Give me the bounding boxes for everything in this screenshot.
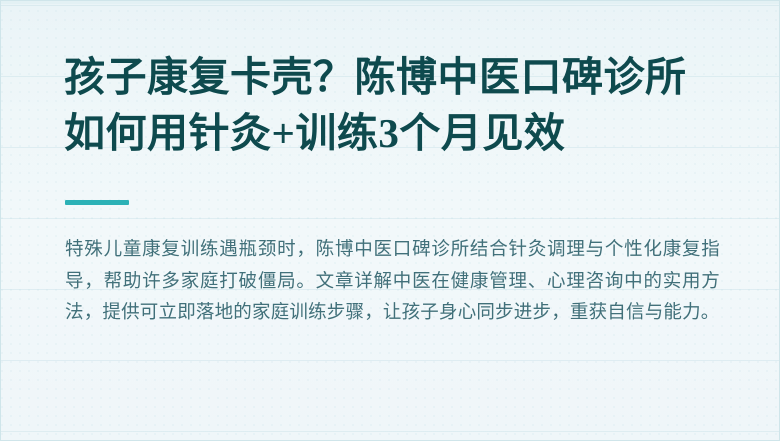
article-summary: 特殊儿童康复训练遇瓶颈时，陈博中医口碑诊所结合针灸调理与个性化康复指导，帮助许多… (65, 233, 720, 328)
article-card: 孩子康复卡壳？陈博中医口碑诊所 如何用针灸+训练3个月见效 特殊儿童康复训练遇瓶… (0, 0, 780, 441)
card-content: 孩子康复卡壳？陈博中医口碑诊所 如何用针灸+训练3个月见效 特殊儿童康复训练遇瓶… (64, 1, 739, 440)
page-title: 孩子康复卡壳？陈博中医口碑诊所 如何用针灸+训练3个月见效 (64, 49, 687, 161)
title-divider (65, 200, 129, 205)
